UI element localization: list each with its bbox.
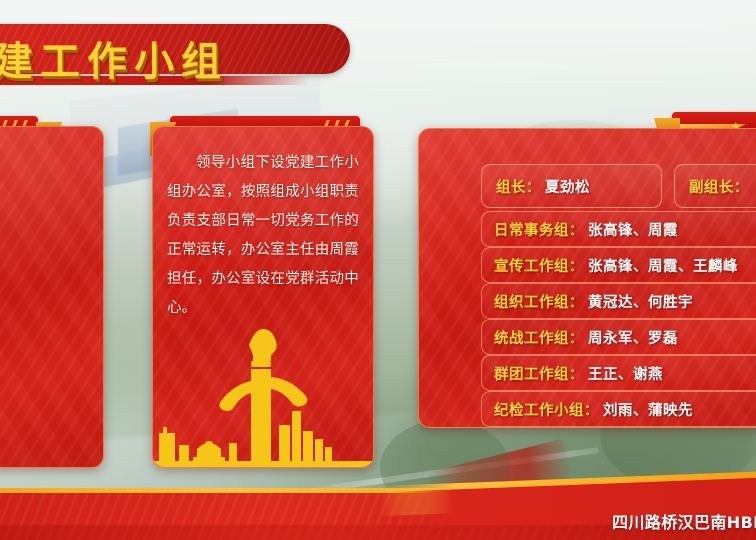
leader-name: 夏劲松 <box>545 176 590 197</box>
group-members: 王正、谢燕 <box>588 363 663 384</box>
left-card-line: 支部党建工作规 <box>0 327 95 356</box>
middle-card-text: 领导小组下设党建工作小组办公室，按照组成小组职责负责支部日常一切党务工作的正常运… <box>167 149 359 323</box>
group-row[interactable]: 组织工作组： 黄冠达、何胜宇 <box>481 283 756 319</box>
group-row[interactable]: 纪检工作小组： 刘雨、蒲映先 <box>481 391 756 427</box>
footer-brand-text: 四川路桥汉巴南HBNZ <box>612 509 756 533</box>
left-card-line: 盲位的党建工作 <box>0 211 95 240</box>
left-card-line: 学化、标准化、 <box>0 356 95 385</box>
group-members: 黄冠达、何胜宇 <box>588 291 693 312</box>
group-members: 张高锋、周霞 <box>588 219 678 240</box>
group-label: 宣传工作组： <box>494 255 584 276</box>
left-card-text: 强项目党建工 确、领导有力、 盲位的党建工作 机制、推动党建 展、让基层党组 抓… <box>0 153 95 414</box>
group-label: 日常事务组： <box>494 219 584 240</box>
group-members: 周永军、罗磊 <box>588 327 678 348</box>
group-label: 群团工作组： <box>494 363 584 384</box>
deputy-leader-pill[interactable]: 副组长： <box>674 164 756 208</box>
left-card-line: 理为组长的党 <box>0 385 95 414</box>
group-row[interactable]: 日常事务组： 张高锋、周霞 <box>481 211 756 247</box>
right-roster-card: 组长： 夏劲松 副组长： 日常事务组： 张高锋、周霞 宣传工作组： 张高锋、周霞… <box>418 128 756 428</box>
group-label: 组织工作组： <box>494 291 584 312</box>
group-members: 刘雨、蒲映先 <box>603 399 693 420</box>
group-row[interactable]: 宣传工作组： 张高锋、周霞、王麟峰 <box>481 247 756 283</box>
group-row[interactable]: 统战工作组： 周永军、罗磊 <box>481 319 756 355</box>
poster-canvas: 党建工作小组 ★ 强项目党建工 确、领导有力、 盲位的党建工作 机制、推动党建 … <box>0 0 756 540</box>
middle-info-card: 领导小组下设党建工作小组办公室，按照组成小组职责负责支部日常一切党务工作的正常运… <box>152 126 374 468</box>
group-members: 张高锋、周霞、王麟峰 <box>588 255 738 276</box>
group-label: 纪检工作小组： <box>494 399 599 420</box>
leader-pill[interactable]: 组长： 夏劲松 <box>481 164 662 208</box>
left-card-line: 展、让基层党组 <box>0 269 95 298</box>
left-info-card: 强项目党建工 确、领导有力、 盲位的党建工作 机制、推动党建 展、让基层党组 抓… <box>0 126 104 468</box>
group-label: 统战工作组： <box>494 327 584 348</box>
left-card-line: 机制、推动党建 <box>0 240 95 269</box>
page-title: 党建工作小组 <box>0 29 228 87</box>
left-card-line: 确、领导有力、 <box>0 182 95 211</box>
leadership-row: 组长： 夏劲松 副组长： <box>481 164 756 208</box>
group-row[interactable]: 群团工作组： 王正、谢燕 <box>481 355 756 391</box>
left-card-line: 抓手，切实有力 <box>0 298 95 327</box>
deputy-leader-label: 副组长： <box>689 176 749 197</box>
leader-label: 组长： <box>496 176 541 197</box>
left-card-line: 强项目党建工 <box>0 153 95 182</box>
city-skyline-silhouette-icon <box>153 327 373 467</box>
